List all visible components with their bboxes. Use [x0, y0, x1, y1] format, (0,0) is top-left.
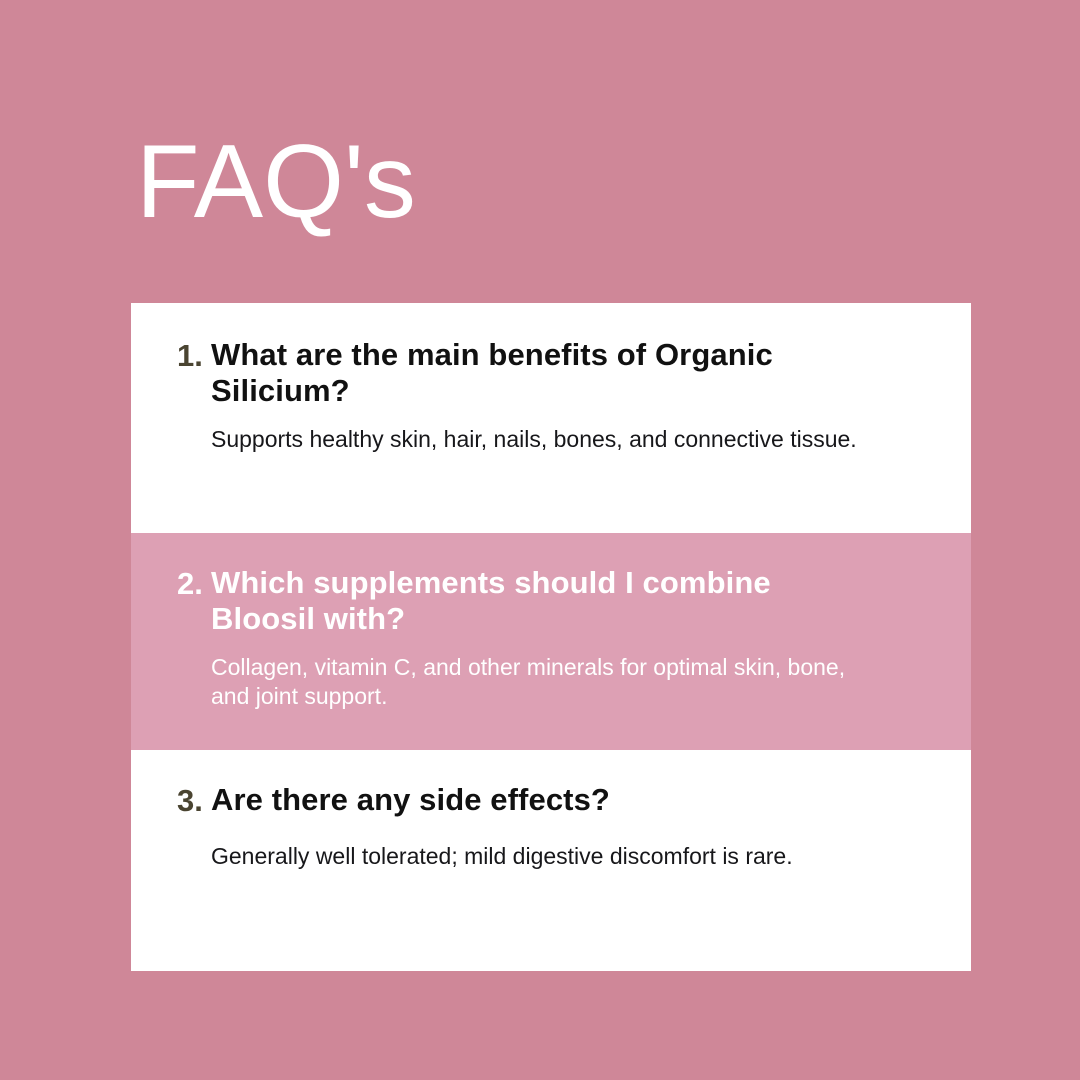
- faq-question-text: Are there any side effects?: [211, 782, 811, 818]
- faq-item[interactable]: 1. What are the main benefits of Organic…: [131, 303, 971, 533]
- faq-answer-text: Supports healthy skin, hair, nails, bone…: [211, 425, 859, 454]
- faq-item-number: 2.: [177, 565, 211, 603]
- faq-question-row: 1. What are the main benefits of Organic…: [177, 337, 953, 410]
- faq-page: FAQ's 1. What are the main benefits of O…: [0, 0, 1080, 1080]
- faq-question-text: What are the main benefits of Organic Si…: [211, 337, 801, 410]
- faq-question-row: 3. Are there any side effects?: [177, 782, 953, 820]
- faq-answer-text: Generally well tolerated; mild digestive…: [211, 842, 859, 871]
- page-title: FAQ's: [136, 130, 416, 234]
- faq-item[interactable]: 3. Are there any side effects? Generally…: [131, 750, 971, 971]
- faq-question-row: 2. Which supplements should I combine Bl…: [177, 565, 953, 638]
- faq-item-number: 1.: [177, 337, 211, 375]
- faq-question-text: Which supplements should I combine Bloos…: [211, 565, 771, 638]
- faq-item[interactable]: 2. Which supplements should I combine Bl…: [131, 533, 971, 750]
- faq-item-number: 3.: [177, 782, 211, 820]
- faq-card: 1. What are the main benefits of Organic…: [131, 303, 971, 971]
- faq-answer-text: Collagen, vitamin C, and other minerals …: [211, 653, 863, 711]
